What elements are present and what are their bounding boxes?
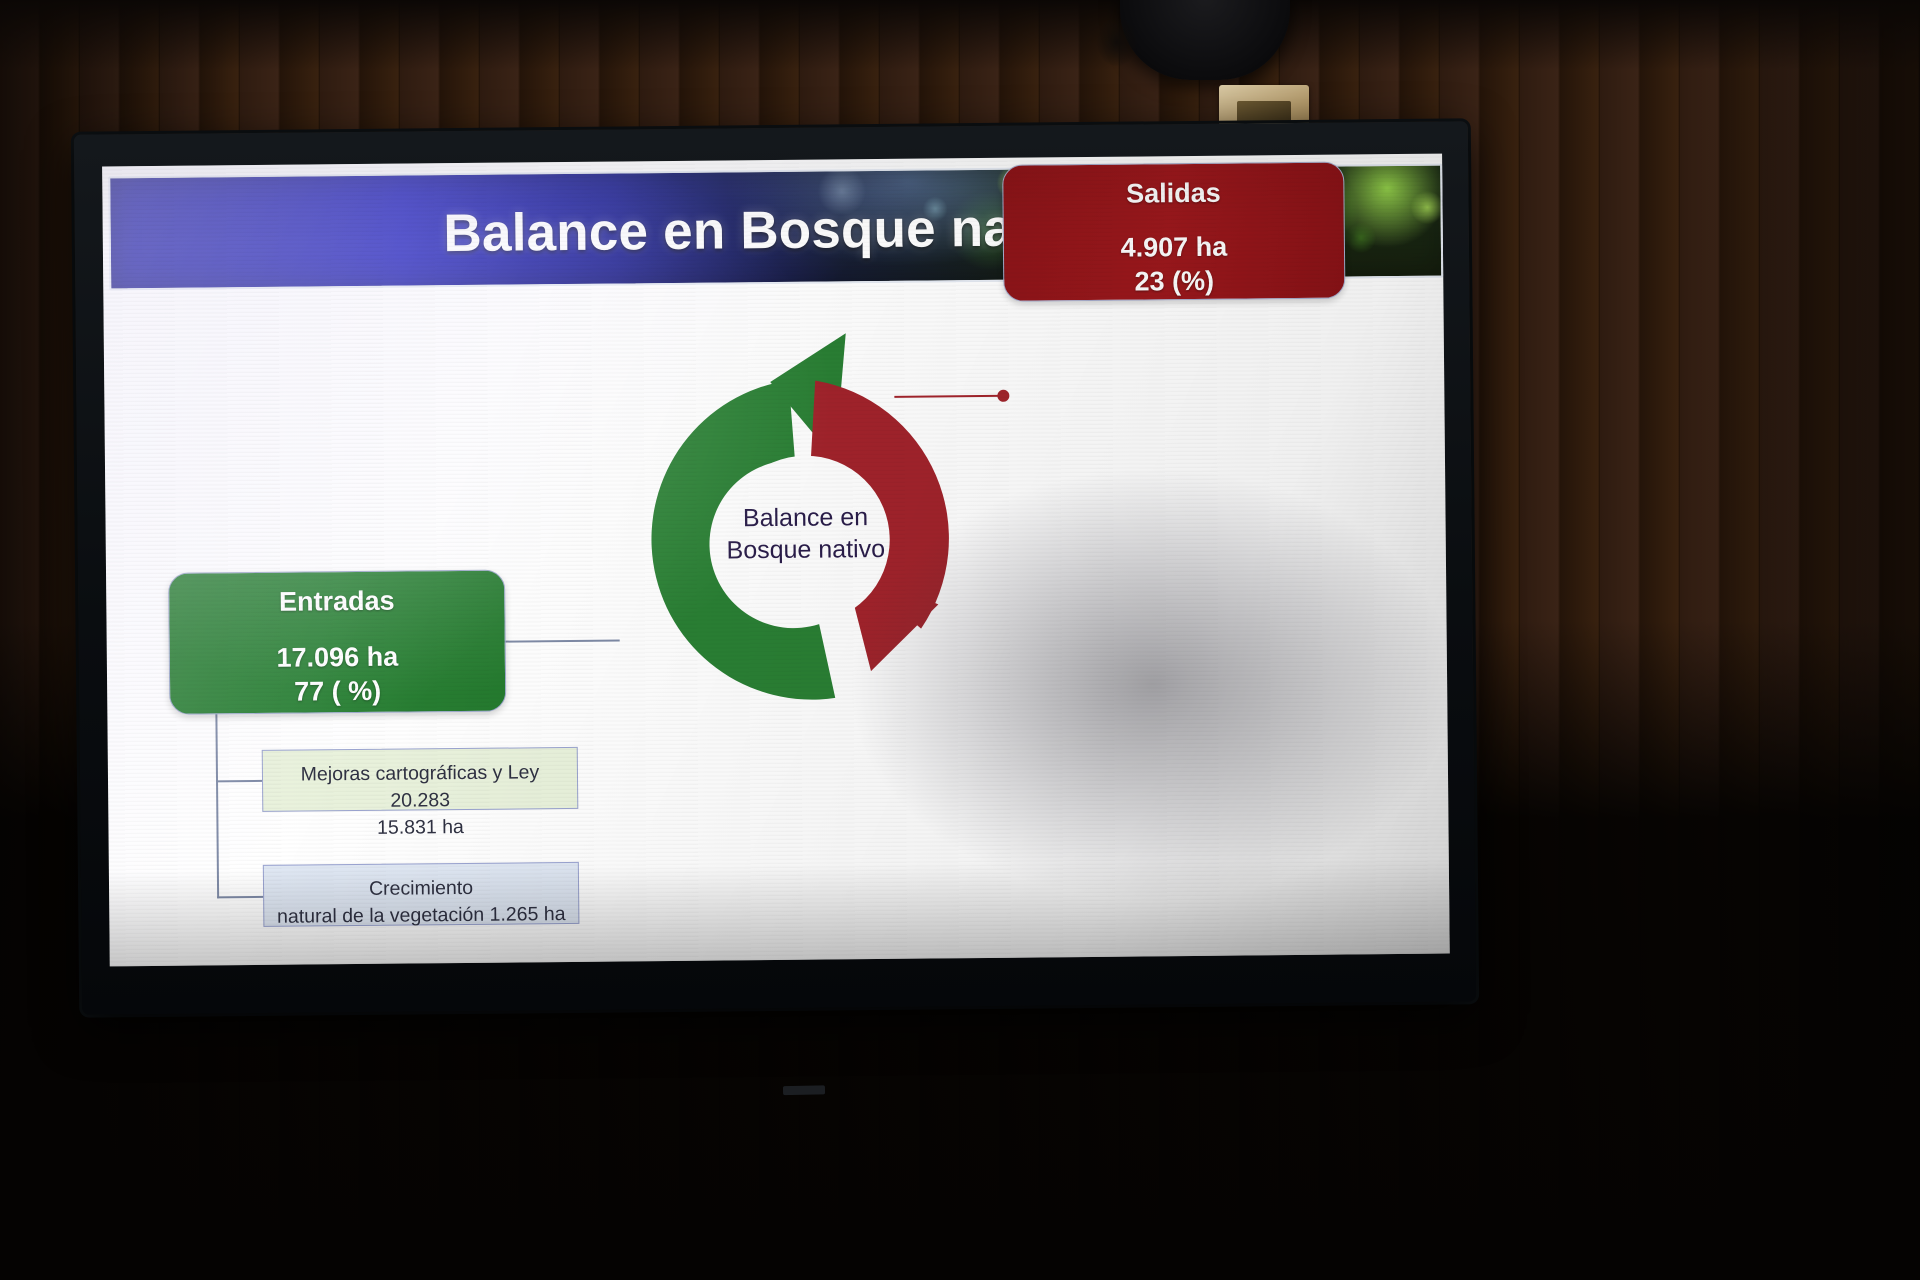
presentation-slide: Balance en Bosque nativo (102, 154, 1450, 967)
sub-mejoras-line-1: Mejoras cartográficas y Ley 20.283 (275, 759, 566, 816)
television-display: Balance en Bosque nativo (74, 121, 1476, 1014)
entradas-percent: 77 ( %) (170, 673, 505, 710)
salidas-area: 4.907 ha (1004, 230, 1344, 267)
sub-crecimiento-line-2: natural de la vegetación 1.265 ha (276, 901, 566, 931)
sub-crecimiento-line-1: Crecimiento (276, 874, 566, 904)
entradas-heading: Entradas (169, 585, 504, 619)
salidas-values: 4.907 ha 23 (%) (1004, 230, 1345, 301)
donut-center-label: Balance en Bosque nativo (675, 500, 936, 566)
salidas-callout-box: Salidas 4.907 ha 23 (%) (1002, 162, 1345, 302)
wall-mark (1097, 18, 1137, 66)
entradas-callout-box: Entradas 17.096 ha 77 ( %) (168, 570, 506, 715)
sub-box-crecimiento-natural: Crecimiento natural de la vegetación 1.2… (263, 862, 580, 927)
sub-mejoras-line-2: 15.831 ha (275, 813, 565, 843)
connector-to-mejoras (216, 780, 263, 782)
entradas-area: 17.096 ha (170, 640, 505, 677)
sub-box-mejoras-cartograficas: Mejoras cartográficas y Ley 20.283 15.83… (262, 747, 579, 812)
tv-brand-logo (783, 1085, 825, 1095)
connector-vertical-branch (215, 713, 219, 898)
ceiling-shadow (0, 0, 1920, 70)
center-label-line-1: Balance en (675, 500, 935, 534)
cycle-donut-chart: Balance en Bosque nativo (614, 348, 998, 732)
salidas-heading: Salidas (1003, 177, 1343, 211)
photo-scene: Balance en Bosque nativo (0, 0, 1920, 1280)
salidas-percent: 23 (%) (1004, 263, 1344, 300)
connector-to-crecimiento (217, 896, 264, 898)
center-label-line-2: Bosque nativo (676, 532, 936, 566)
entradas-values: 17.096 ha 77 ( %) (170, 640, 506, 711)
